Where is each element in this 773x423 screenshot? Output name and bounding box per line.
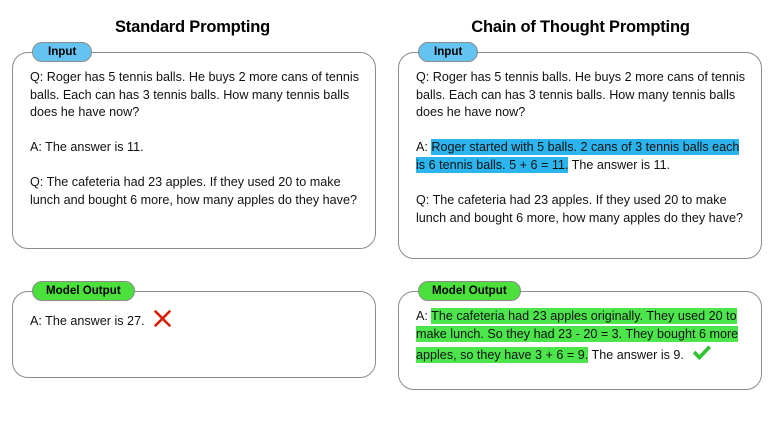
badge-input-chain-of-thought: Input xyxy=(418,42,478,62)
card-input-standard-body: Q: Roger has 5 tennis balls. He buys 2 m… xyxy=(30,69,361,210)
cot-output-reasoning-highlight: The cafeteria had 23 apples originally. … xyxy=(416,308,738,363)
badge-output-chain-of-thought: Model Output xyxy=(418,281,521,301)
cot-input-answer-1: A: Roger started with 5 balls. 2 cans of… xyxy=(416,139,747,174)
badge-input-standard: Input xyxy=(32,42,92,62)
cot-output-answer-prefix: A: xyxy=(416,309,431,323)
cot-input-question-1: Q: Roger has 5 tennis balls. He buys 2 m… xyxy=(416,69,747,122)
card-input-chain-of-thought: Q: Roger has 5 tennis balls. He buys 2 m… xyxy=(398,52,762,259)
badge-output-standard: Model Output xyxy=(32,281,135,301)
standard-output-line: A: The answer is 27. xyxy=(30,308,361,331)
standard-input-question-1: Q: Roger has 5 tennis balls. He buys 2 m… xyxy=(30,69,361,122)
column-title-chain-of-thought-prompting: Chain of Thought Prompting xyxy=(388,18,773,37)
cot-input-answer-suffix: The answer is 11. xyxy=(568,158,670,172)
card-input-standard: Q: Roger has 5 tennis balls. He buys 2 m… xyxy=(12,52,376,249)
card-output-standard-body: A: The answer is 27. xyxy=(30,308,361,331)
column-title-standard-prompting: Standard Prompting xyxy=(0,18,385,37)
card-output-chain-of-thought: A: The cafeteria had 23 apples originall… xyxy=(398,291,762,390)
card-input-cot-body: Q: Roger has 5 tennis balls. He buys 2 m… xyxy=(416,69,747,227)
standard-input-answer-1: A: The answer is 11. xyxy=(30,139,361,157)
card-output-standard: A: The answer is 27. xyxy=(12,291,376,378)
cot-input-answer-prefix: A: xyxy=(416,140,431,154)
green-check-icon xyxy=(691,343,713,363)
red-x-icon xyxy=(152,308,173,329)
cot-output-answer-suffix: The answer is 9. xyxy=(588,348,684,362)
cot-output-line: A: The cafeteria had 23 apples originall… xyxy=(416,308,747,365)
card-output-cot-body: A: The cafeteria had 23 apples originall… xyxy=(416,308,747,365)
cot-input-question-2: Q: The cafeteria had 23 apples. If they … xyxy=(416,192,747,227)
figure-root: Standard Prompting Q: Roger has 5 tennis… xyxy=(0,0,773,423)
standard-input-question-2: Q: The cafeteria had 23 apples. If they … xyxy=(30,174,361,209)
standard-output-answer: A: The answer is 27. xyxy=(30,314,145,328)
